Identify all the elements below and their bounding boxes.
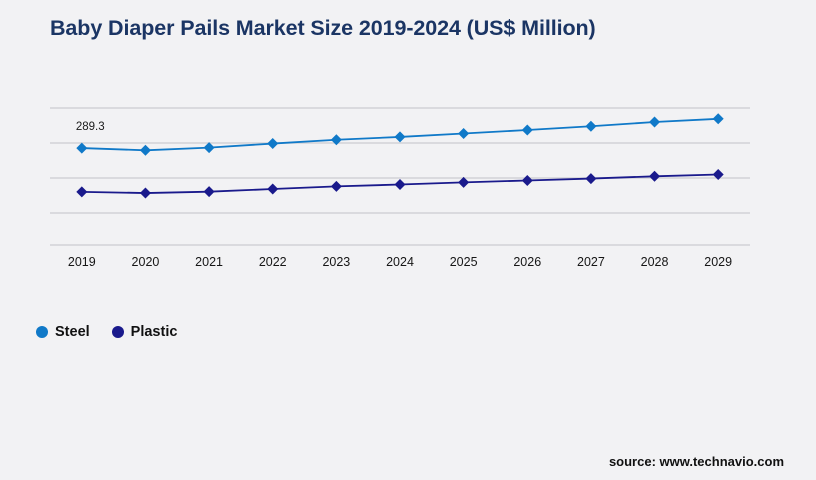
x-axis-tick-label: 2024 [386,255,414,269]
data-point-marker[interactable] [204,186,215,197]
circle-icon [112,326,124,338]
x-axis-tick-label: 2026 [513,255,541,269]
x-axis-tick-label: 2029 [704,255,732,269]
circle-icon [36,326,48,338]
data-point-marker[interactable] [140,145,151,156]
data-point-marker[interactable] [331,181,342,192]
data-point-marker[interactable] [522,125,533,136]
data-point-marker[interactable] [76,186,87,197]
x-axis-tick-label: 2019 [68,255,96,269]
data-point-marker[interactable] [395,131,406,142]
legend-item-plastic[interactable]: Plastic [112,324,178,340]
x-axis-tick-label: 2022 [259,255,287,269]
legend-item-label: Plastic [131,324,178,340]
data-point-marker[interactable] [458,128,469,139]
data-point-marker[interactable] [522,175,533,186]
plot-area: 289.3 2019202020212022202320242025202620… [0,0,816,480]
legend-item-label: Steel [55,324,90,340]
x-axis-tick-label: 2025 [450,255,478,269]
data-point-marker[interactable] [267,184,278,195]
x-axis-tick-label: 2021 [195,255,223,269]
data-point-marker[interactable] [585,121,596,132]
data-point-marker[interactable] [713,113,724,124]
data-point-marker[interactable] [267,138,278,149]
data-point-marker[interactable] [585,173,596,184]
data-point-marker[interactable] [649,171,660,182]
x-axis-tick-label: 2020 [132,255,160,269]
source-note: source: www.technavio.com [609,454,784,469]
x-axis-tick-label: 2028 [641,255,669,269]
data-point-marker[interactable] [76,143,87,154]
data-point-marker[interactable] [140,188,151,199]
data-point-marker[interactable] [649,117,660,128]
x-axis-tick-label: 2023 [322,255,350,269]
chart-card: Baby Diaper Pails Market Size 2019-2024 … [0,0,816,480]
x-axis-tick-label: 2027 [577,255,605,269]
data-point-marker[interactable] [204,142,215,153]
data-point-marker[interactable] [395,179,406,190]
data-series-layer [76,113,723,198]
legend-item-steel[interactable]: Steel [36,324,90,340]
chart-legend: SteelPlastic [36,324,177,340]
data-label: 289.3 [76,121,105,133]
